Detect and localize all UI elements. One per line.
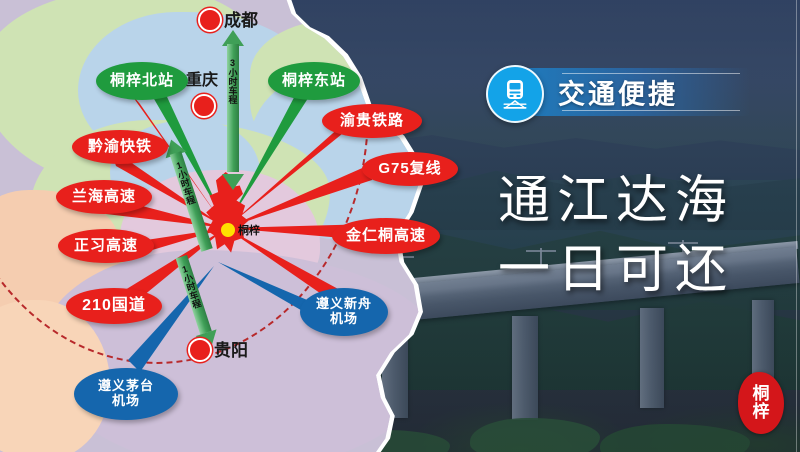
callout-airport-zunyi-xinzhou[interactable]: 遵义新舟 机场: [300, 288, 388, 336]
center-marker-tongzi: [219, 221, 237, 239]
right-edge-divider: [796, 0, 797, 452]
callout-route-national-highway-210[interactable]: 210国道: [66, 288, 162, 324]
city-marker-chengdu: [198, 8, 222, 32]
callout-route-jinrentong-expressway[interactable]: 金仁桐高速: [332, 218, 440, 254]
callout-route-zhengxi-expressway[interactable]: 正习高速: [58, 229, 154, 263]
callout-airport-zunyi-maotai[interactable]: 遵义茅台 机场: [74, 368, 178, 420]
city-label-chongqing: 重庆: [186, 66, 218, 90]
section-title: 交通便捷: [558, 73, 678, 112]
callout-route-yugui-railway[interactable]: 渝贵铁路: [322, 104, 422, 138]
callout-route-g75-duplicate-line[interactable]: G75复线: [362, 152, 458, 186]
city-marker-guiyang: [188, 338, 212, 362]
tongzi-seal-text: 桐 梓: [753, 385, 770, 421]
city-marker-chongqing: [192, 94, 216, 118]
city-label-guiyang: 贵阳: [214, 336, 248, 361]
train-icon: [486, 65, 544, 123]
tongzi-seal-stamp: 桐 梓: [738, 372, 784, 434]
callout-station-tongzi-east[interactable]: 桐梓东站: [268, 62, 360, 100]
callout-route-lanhai-expressway[interactable]: 兰海高速: [56, 180, 152, 214]
travel-arrow-chengdu: 3小时车程: [222, 30, 244, 190]
slogan-text: 通江达海 一日可还: [498, 168, 734, 305]
travel-arrow-chengdu-label: 3小时车程: [227, 58, 240, 104]
callout-route-qianyu-express-rail[interactable]: 黔渝快铁: [72, 130, 168, 164]
section-title-bar: 交通便捷: [500, 68, 750, 116]
city-label-chengdu: 成都: [224, 6, 258, 31]
infographic-poster: 3小时车程 1小时车程 1小时车程 成都 重庆 贵阳 桐梓 桐梓北站 桐梓东站 …: [0, 0, 800, 452]
center-label-tongzi: 桐梓: [238, 222, 260, 238]
callout-station-tongzi-north[interactable]: 桐梓北站: [96, 62, 188, 100]
